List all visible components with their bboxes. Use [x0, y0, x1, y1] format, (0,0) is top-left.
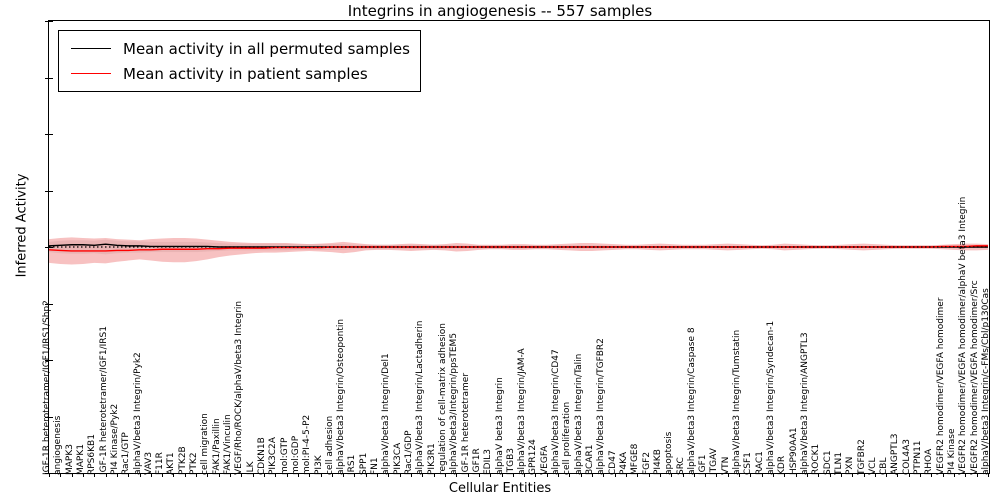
x-tick-mark [230, 473, 231, 477]
y-tick-mark-outer [45, 360, 49, 361]
x-tick-mark [705, 473, 706, 477]
x-tick-mark [490, 473, 491, 477]
x-tick-mark [94, 473, 95, 477]
x-tick-mark [173, 473, 174, 477]
x-tick-mark [965, 473, 966, 477]
x-tick-mark [151, 473, 152, 477]
x-tick-mark [388, 473, 389, 477]
x-tick-mark [354, 473, 355, 477]
y-tick-mark [49, 21, 53, 22]
x-tick-mark [434, 473, 435, 477]
x-tick-mark [445, 473, 446, 477]
x-tick-mark [83, 473, 84, 477]
x-tick-mark [377, 473, 378, 477]
x-tick-mark [366, 473, 367, 477]
x-tick-mark [117, 473, 118, 477]
y-axis-label: Inferred Activity [15, 126, 30, 326]
y-tick-mark-outer [45, 134, 49, 135]
x-tick-mark [219, 473, 220, 477]
x-tick-mark [875, 473, 876, 477]
x-tick-mark [140, 473, 141, 477]
x-tick-mark [615, 473, 616, 477]
y-tick-mark-outer [45, 417, 49, 418]
x-tick-mark [683, 473, 684, 477]
confidence-bands [49, 237, 988, 264]
x-tick-mark [773, 473, 774, 477]
x-tick-mark [920, 473, 921, 477]
x-tick-mark [468, 473, 469, 477]
x-tick-mark [897, 473, 898, 477]
x-tick-mark [637, 473, 638, 477]
x-tick-mark [716, 473, 717, 477]
x-tick-mark [72, 473, 73, 477]
x-tick-mark [626, 473, 627, 477]
y-tick-mark [49, 247, 53, 248]
legend-item: Mean activity in all permuted samples [65, 36, 410, 61]
x-tick-mark [603, 473, 604, 477]
x-tick-mark [649, 473, 650, 477]
x-tick-mark [332, 473, 333, 477]
x-tick-mark [977, 473, 978, 477]
x-tick-mark [400, 473, 401, 477]
y-tick-mark-outer [45, 304, 49, 305]
x-tick-mark [196, 473, 197, 477]
y-tick-mark-outer [45, 191, 49, 192]
x-tick-mark [807, 473, 808, 477]
y-tick-mark [49, 417, 53, 418]
x-tick-mark [298, 473, 299, 477]
x-tick-mark [479, 473, 480, 477]
x-tick-mark [569, 473, 570, 477]
y-tick-mark [49, 78, 53, 79]
legend-label-patient: Mean activity in patient samples [123, 65, 368, 83]
x-tick-mark [728, 473, 729, 477]
x-tick-mark [321, 473, 322, 477]
x-axis-label: Cellular Entities [0, 481, 1000, 496]
x-tick-mark [207, 473, 208, 477]
legend-item: Mean activity in patient samples [65, 61, 410, 86]
x-tick-mark [162, 473, 163, 477]
x-tick-mark [818, 473, 819, 477]
chart-title: Integrins in angiogenesis -- 557 samples [0, 2, 1000, 20]
chart-figure: Integrins in angiogenesis -- 557 samples… [0, 0, 1000, 500]
x-tick-mark [241, 473, 242, 477]
x-tick-mark [796, 473, 797, 477]
chart-legend: Mean activity in all permuted samples Me… [58, 30, 421, 92]
x-tick-mark [264, 473, 265, 477]
x-tick-mark [547, 473, 548, 477]
x-tick-mark [739, 473, 740, 477]
x-tick-mark [287, 473, 288, 477]
legend-swatch-patient [71, 73, 111, 74]
x-tick-mark [852, 473, 853, 477]
band-patient [49, 237, 988, 264]
legend-label-permuted: Mean activity in all permuted samples [123, 40, 410, 58]
x-tick-mark [422, 473, 423, 477]
x-tick-mark [943, 473, 944, 477]
x-tick-mark [106, 473, 107, 477]
x-tick-mark [592, 473, 593, 477]
x-tick-mark [128, 473, 129, 477]
x-tick-mark [60, 473, 61, 477]
x-tick-mark [954, 473, 955, 477]
x-tick-mark [841, 473, 842, 477]
x-tick-mark [535, 473, 536, 477]
x-tick-mark [49, 473, 50, 477]
x-tick-mark [762, 473, 763, 477]
y-tick-mark-outer [45, 247, 49, 248]
x-tick-mark [830, 473, 831, 477]
x-tick-mark [558, 473, 559, 477]
y-tick-mark [49, 134, 53, 135]
x-tick-mark [694, 473, 695, 477]
x-tick-mark [988, 473, 989, 477]
y-tick-mark [49, 191, 53, 192]
x-tick-mark [343, 473, 344, 477]
x-tick-mark [864, 473, 865, 477]
x-tick-mark [411, 473, 412, 477]
x-tick-mark [909, 473, 910, 477]
y-tick-mark-outer [45, 78, 49, 79]
x-tick-mark [253, 473, 254, 477]
x-tick-mark [502, 473, 503, 477]
x-tick-mark [513, 473, 514, 477]
x-tick-mark [671, 473, 672, 477]
x-tick-mark [784, 473, 785, 477]
x-tick-mark [275, 473, 276, 477]
y-tick-mark [49, 360, 53, 361]
y-tick-mark-outer [45, 21, 49, 22]
x-tick-mark [931, 473, 932, 477]
x-tick-mark [524, 473, 525, 477]
y-tick-mark [49, 304, 53, 305]
legend-swatch-permuted [71, 48, 111, 49]
x-tick-mark [886, 473, 887, 477]
x-tick-mark [185, 473, 186, 477]
x-tick-mark [581, 473, 582, 477]
x-tick-mark [660, 473, 661, 477]
x-tick-mark [309, 473, 310, 477]
x-tick-mark [750, 473, 751, 477]
x-tick-mark [456, 473, 457, 477]
